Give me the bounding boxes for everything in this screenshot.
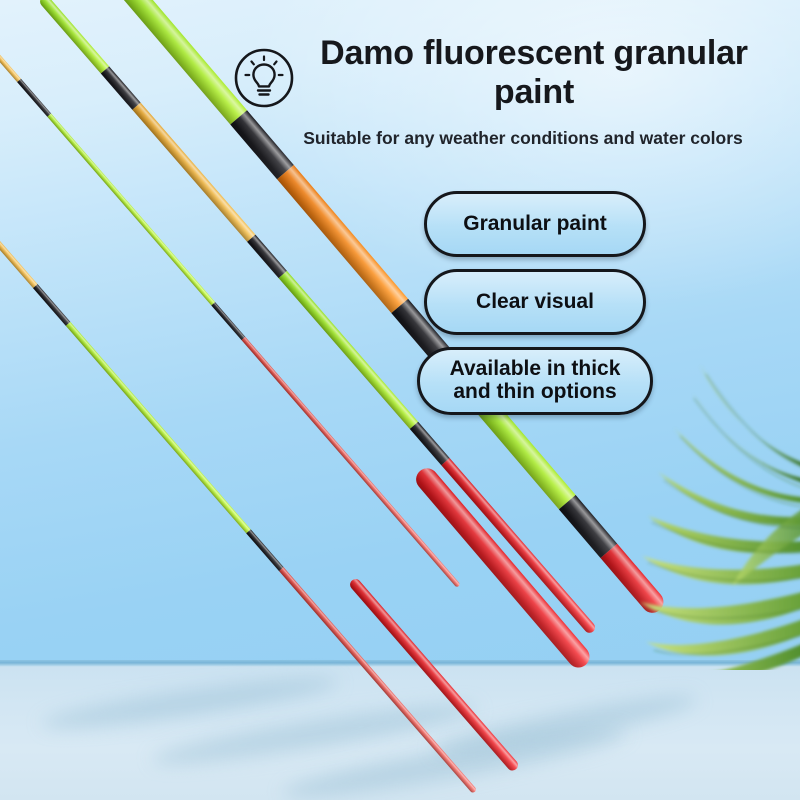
feature-badge-thick-thin-options[interactable]: Available in thick and thin options	[417, 347, 653, 415]
page-title: Damo fluorescent granular paint	[276, 34, 792, 113]
palm-frond-icon	[640, 350, 800, 670]
feature-badge-clear-visual[interactable]: Clear visual	[424, 269, 646, 335]
page-subtitle: Suitable for any weather conditions and …	[250, 128, 796, 149]
badge-label-line-1: Available in thick	[450, 357, 621, 380]
badge-label: Clear visual	[476, 291, 594, 314]
feature-badge-granular-paint[interactable]: Granular paint	[424, 191, 646, 257]
product-banner: Damo fluorescent granular paint Suitable…	[0, 0, 800, 800]
badge-label-line-2: and thin options	[453, 380, 616, 403]
title-line-1: Damo fluorescent granular	[276, 34, 792, 73]
title-line-2: paint	[276, 73, 792, 112]
badge-label: Granular paint	[463, 213, 607, 236]
badge-label-multiline: Available in thick and thin options	[450, 358, 621, 403]
